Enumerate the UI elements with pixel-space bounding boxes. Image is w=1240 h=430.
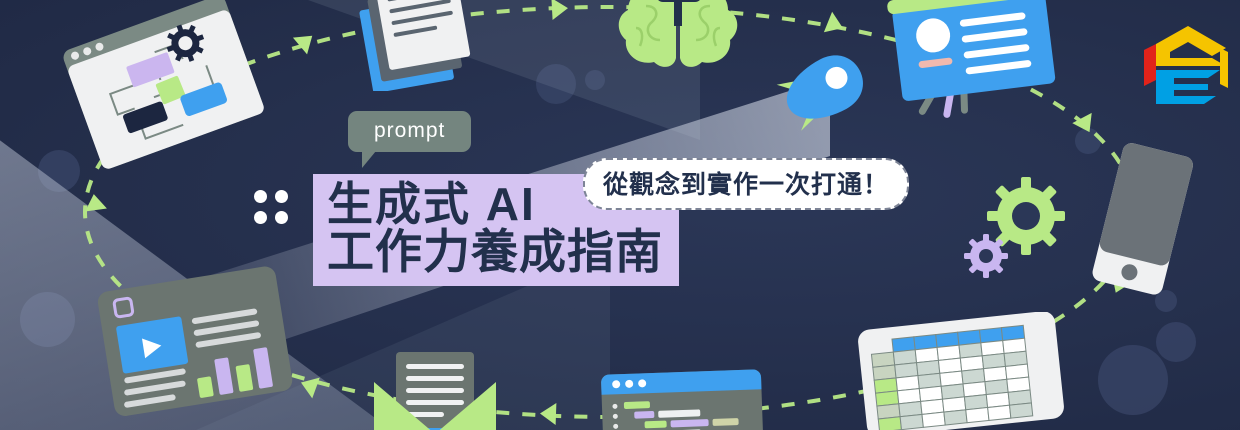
spreadsheet-icon: [852, 312, 1072, 430]
rocket-icon: [750, 50, 880, 140]
envelope-icon: [360, 338, 510, 430]
title-line-2: 工作力養成指南: [327, 228, 663, 276]
brand-logo: [1134, 14, 1234, 114]
ai-brain-icon: AI: [608, 0, 748, 74]
smartphone-icon: [1088, 142, 1198, 302]
gear-small-icon: [962, 232, 1010, 280]
documents-stack-icon: [348, 0, 498, 91]
flowchart-window-icon: [52, 0, 272, 190]
presentation-board-icon: [884, 0, 1074, 126]
subtitle-badge: 從觀念到實作一次打通！: [583, 158, 909, 210]
prompt-bubble: prompt: [348, 111, 471, 152]
promo-banner: AI: [0, 0, 1240, 430]
code-editor-icon: [592, 366, 772, 430]
video-dashboard-icon: [92, 262, 302, 430]
